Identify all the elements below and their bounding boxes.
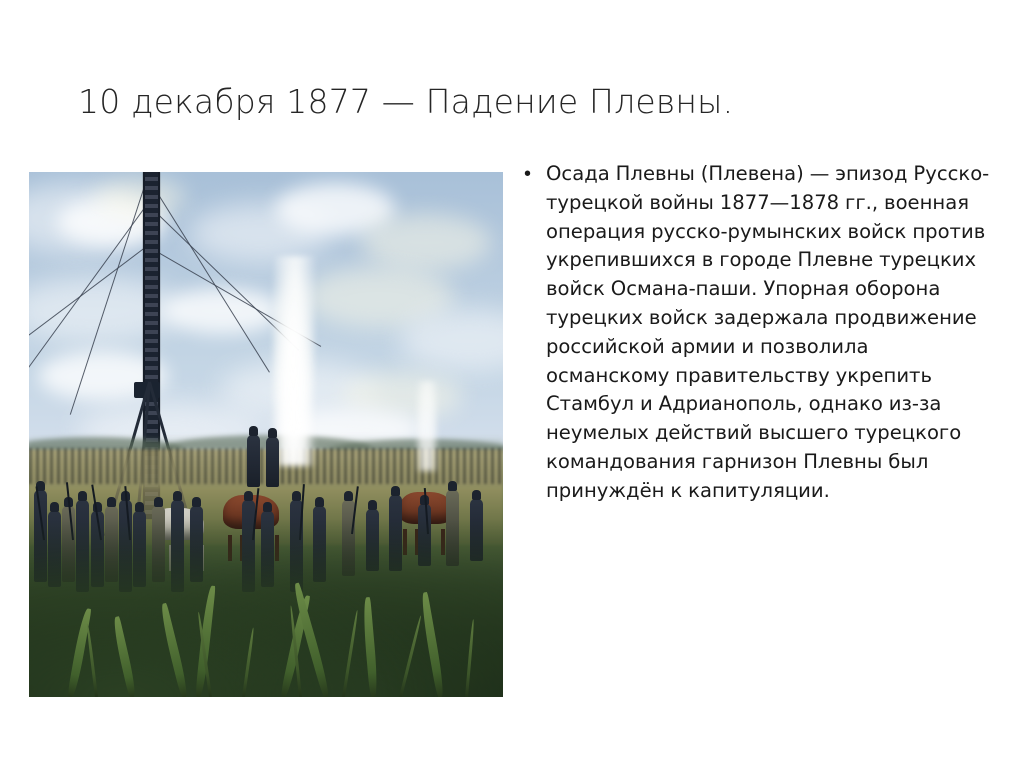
bullet-marker-icon: • (520, 160, 546, 189)
slide-canvas: 10 декабря 1877 — Падение Плевны. (0, 0, 1024, 767)
cannon-smoke (272, 256, 316, 466)
page-title: 10 декабря 1877 — Падение Плевны. (78, 82, 958, 121)
painting-canvas (29, 172, 503, 697)
illustration-painting (29, 172, 503, 697)
body-paragraph: Осада Плевны (Плевена) — эпизод Русско-т… (546, 160, 990, 506)
content-text-block: • Осада Плевны (Плевена) — эпизод Русско… (520, 160, 990, 506)
list-item: • Осада Плевны (Плевена) — эпизод Русско… (520, 160, 990, 506)
